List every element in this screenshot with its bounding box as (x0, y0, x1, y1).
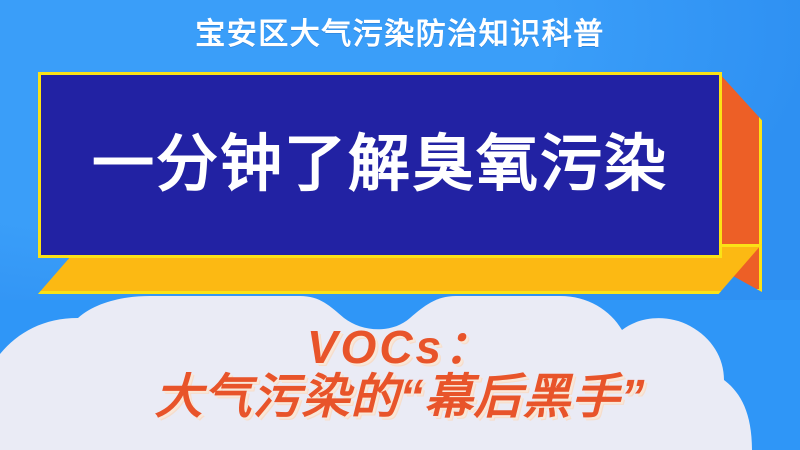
header-bar: 宝安区大气污染防治知识科普 (0, 0, 800, 70)
cloud-panel (0, 296, 800, 450)
cloud-shape-path (0, 296, 752, 450)
plaque-front-face: 一分钟了解臭氧污染 (38, 72, 722, 258)
poster-canvas: 宝安区大气污染防治知识科普 一分钟了解臭氧污染 VOCs： 大气污染的“幕后黑手… (0, 0, 800, 450)
plaque-title-text: 一分钟了解臭氧污染 (92, 134, 668, 196)
header-title: 宝安区大气污染防治知识科普 (195, 20, 605, 50)
title-plaque: 一分钟了解臭氧污染 (38, 72, 762, 292)
